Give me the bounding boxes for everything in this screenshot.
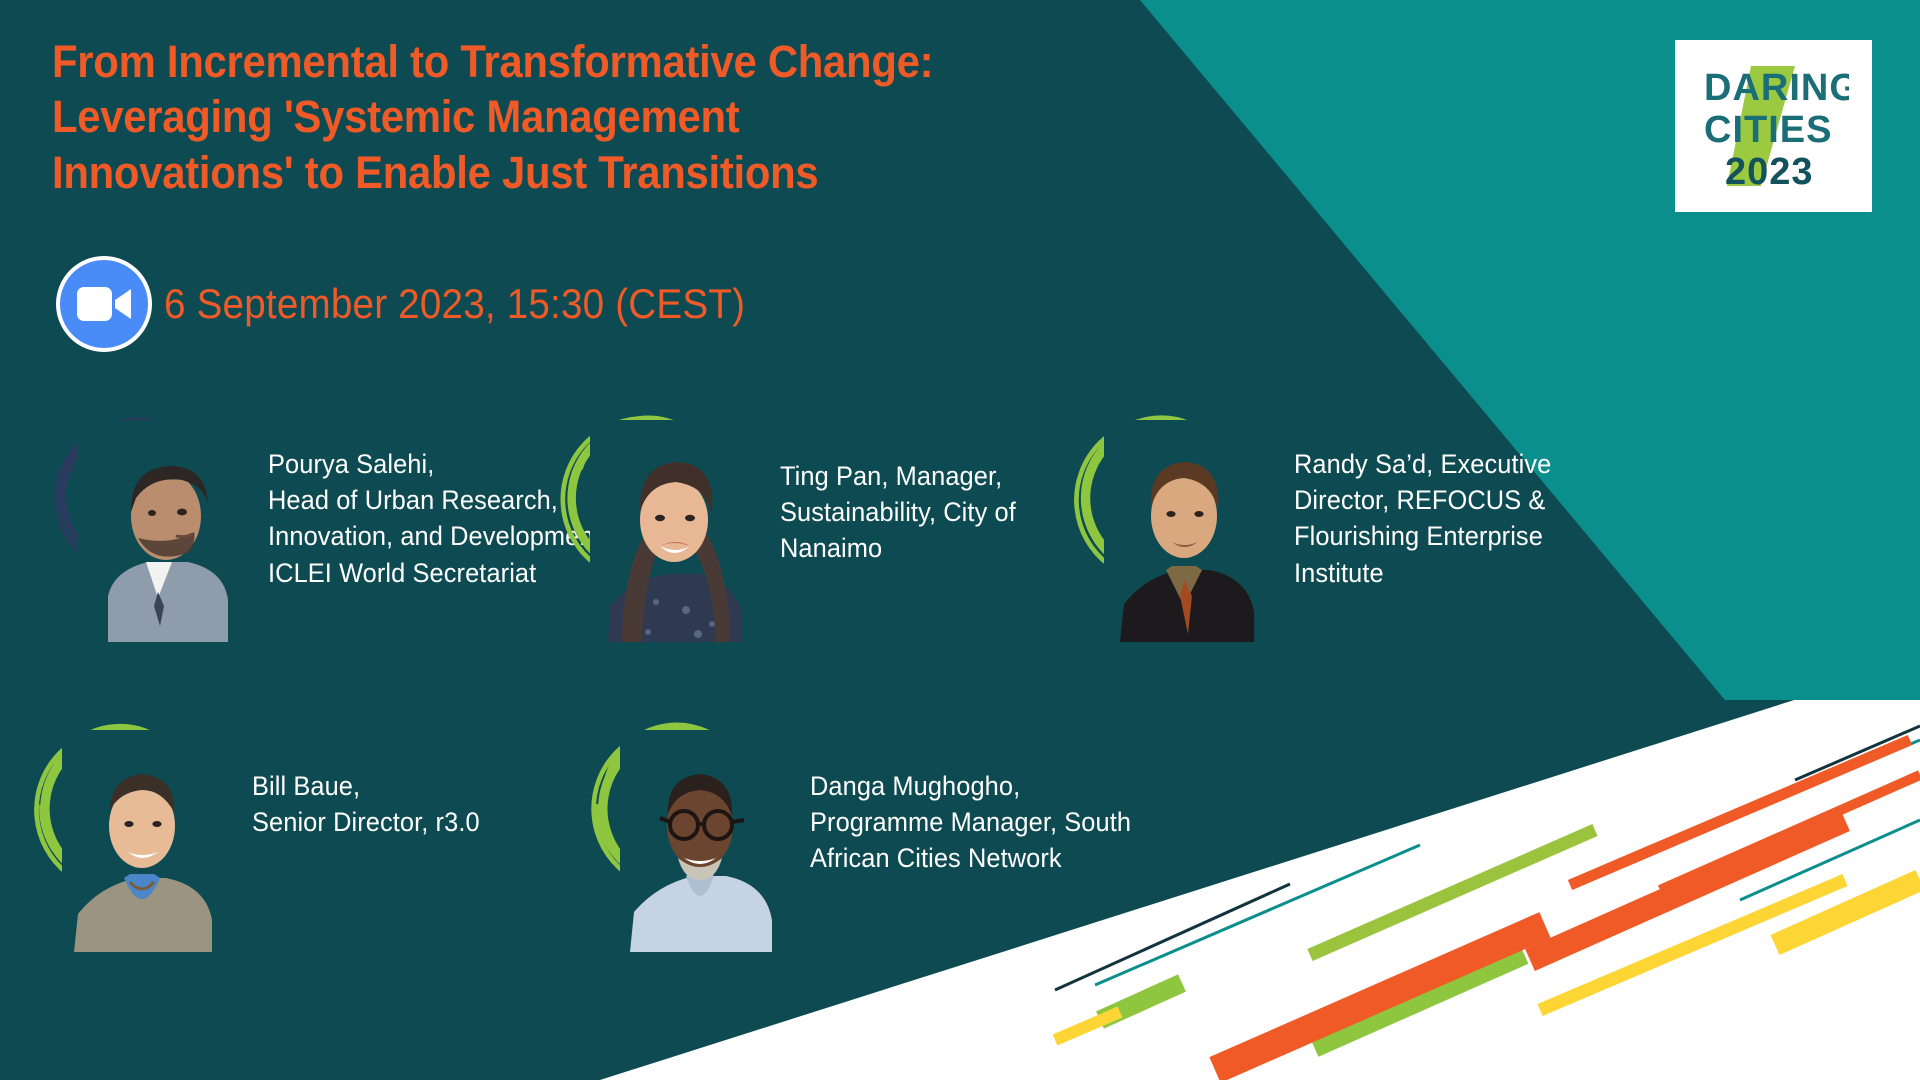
video-camera-glyph — [77, 287, 131, 321]
speaker-card-danga-mughogho: Danga Mughogho, Programme Manager, South… — [620, 722, 1152, 952]
speaker-photo-ting-pan — [590, 420, 750, 642]
portrait-illustration — [78, 420, 238, 642]
speaker-card-ting-pan: Ting Pan, Manager, Sustainability, City … — [590, 412, 1031, 642]
logo-text-cities: CITIES — [1704, 109, 1832, 151]
speaker-photo-danga-mughogho — [620, 730, 780, 952]
event-datetime-row: 6 September 2023, 15:30 (CEST) — [56, 256, 796, 352]
event-datetime-text: 6 September 2023, 15:30 (CEST) — [164, 280, 745, 328]
portrait-illustration — [62, 730, 222, 952]
portrait-wrapper — [590, 412, 760, 642]
event-promo-poster: From Incremental to Transformative Chang… — [0, 0, 1920, 1080]
speaker-info-danga-mughogho: Danga Mughogho, Programme Manager, South… — [810, 722, 1131, 877]
speaker-info-pourya-salehi: Pourya Salehi, Head of Urban Research, I… — [268, 412, 608, 591]
speaker-card-pourya-salehi: Pourya Salehi, Head of Urban Research, I… — [78, 412, 630, 642]
portrait-wrapper — [620, 722, 790, 952]
portrait-wrapper — [1104, 412, 1274, 642]
logo-text-year: 2023 — [1725, 151, 1814, 192]
portrait-wrapper — [62, 722, 232, 952]
speaker-info-bill-baue: Bill Baue, Senior Director, r3.0 — [252, 722, 480, 840]
daring-cities-logo: DARING CITIES 2023 — [1675, 40, 1872, 212]
speaker-info-randy-sad: Randy Sa’d, Executive Director, REFOCUS … — [1294, 412, 1551, 591]
speaker-card-bill-baue: Bill Baue, Senior Director, r3.0 — [62, 722, 494, 952]
title-line-2: Leveraging 'Systemic Management — [52, 89, 1131, 144]
speaker-photo-pourya-salehi — [78, 420, 238, 642]
speaker-photo-randy-sad — [1104, 420, 1264, 642]
zoom-video-camera-icon — [56, 256, 152, 352]
portrait-illustration — [620, 730, 780, 952]
daring-cities-logo-svg: DARING CITIES 2023 — [1699, 60, 1849, 192]
logo-text-daring: DARING — [1704, 67, 1849, 109]
speaker-photo-bill-baue — [62, 730, 222, 952]
speaker-info-ting-pan: Ting Pan, Manager, Sustainability, City … — [780, 412, 1016, 567]
title-line-1: From Incremental to Transformative Chang… — [52, 34, 1131, 89]
portrait-illustration — [590, 420, 750, 642]
portrait-wrapper — [78, 412, 248, 642]
event-title: From Incremental to Transformative Chang… — [52, 34, 1212, 200]
portrait-illustration — [1104, 420, 1264, 642]
title-line-3: Innovations' to Enable Just Transitions — [52, 145, 1131, 200]
speaker-card-randy-sad: Randy Sa’d, Executive Director, REFOCUS … — [1104, 412, 1568, 642]
